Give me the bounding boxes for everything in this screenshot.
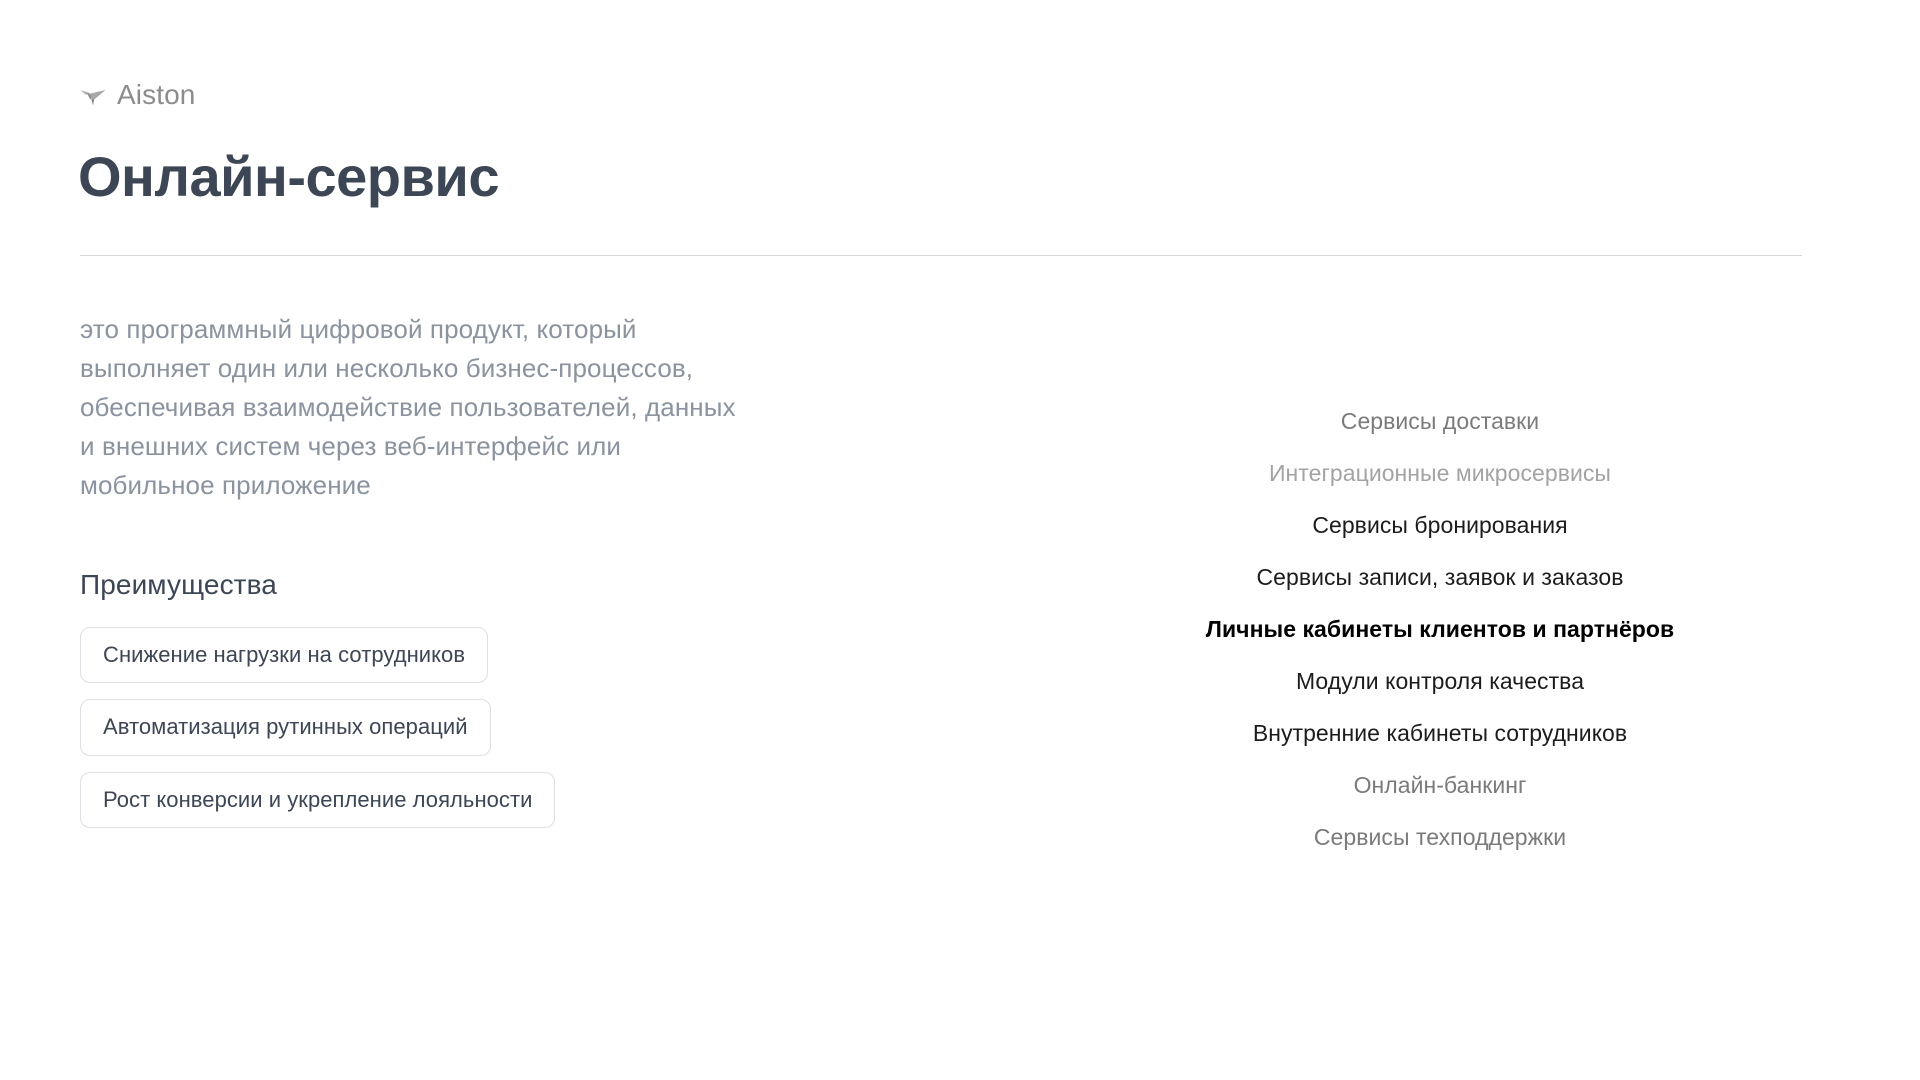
page-root: Aiston Онлайн-сервис это программный циф… — [0, 0, 1920, 1080]
service-item[interactable]: Сервисы бронирования — [1312, 499, 1567, 551]
advantages-heading: Преимущества — [80, 569, 940, 601]
services-column: Сервисы доставки Интеграционные микросер… — [1000, 395, 1880, 863]
advantage-chip[interactable]: Снижение нагрузки на сотрудников — [80, 627, 488, 683]
service-item[interactable]: Онлайн-банкинг — [1354, 759, 1527, 811]
service-item-highlighted[interactable]: Личные кабинеты клиентов и партнёров — [1206, 603, 1674, 655]
advantage-chip[interactable]: Рост конверсии и укрепление лояльности — [80, 772, 555, 828]
service-item[interactable]: Интеграционные микросервисы — [1269, 447, 1611, 499]
brand-logo: Aiston — [80, 78, 195, 112]
brand-name: Aiston — [117, 81, 195, 109]
left-column: это программный цифровой продукт, которы… — [80, 310, 940, 828]
bird-logo-icon — [80, 84, 106, 106]
service-item[interactable]: Сервисы доставки — [1341, 395, 1539, 447]
service-item[interactable]: Внутренние кабинеты сотрудников — [1253, 707, 1627, 759]
description-text: это программный цифровой продукт, которы… — [80, 310, 930, 505]
page-title: Онлайн-сервис — [78, 148, 499, 207]
advantages-list: Снижение нагрузки на сотрудников Автомат… — [80, 627, 940, 828]
header-divider — [80, 255, 1802, 256]
service-item[interactable]: Сервисы техподдержки — [1314, 811, 1566, 863]
service-item[interactable]: Модули контроля качества — [1296, 655, 1584, 707]
service-item[interactable]: Сервисы записи, заявок и заказов — [1256, 551, 1623, 603]
advantage-chip[interactable]: Автоматизация рутинных операций — [80, 699, 491, 755]
